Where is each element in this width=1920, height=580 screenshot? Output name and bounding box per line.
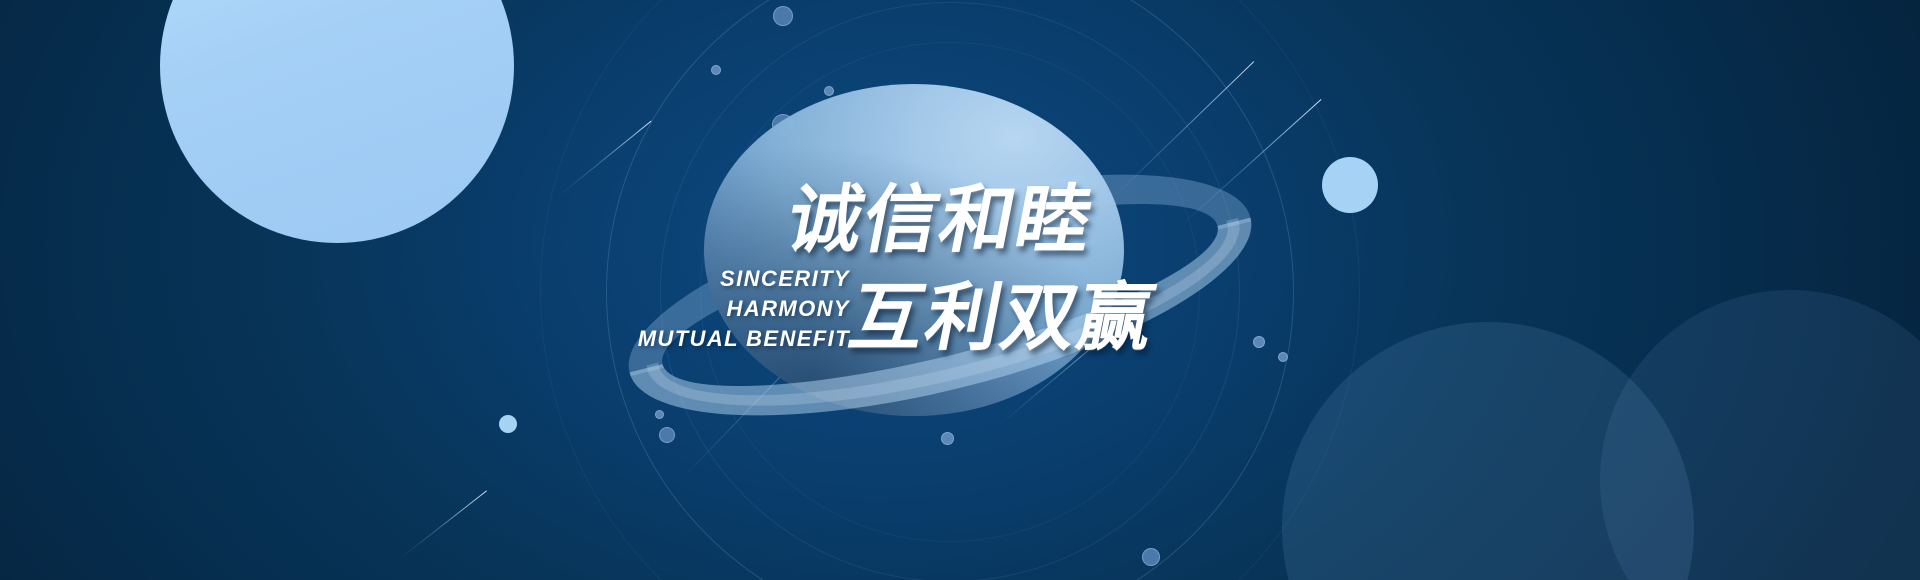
subhead-line-harmony: HARMONY	[460, 296, 850, 322]
headline-line-2: 互利双赢	[842, 258, 1167, 365]
hero-banner: SINCERITY HARMONY MUTUAL BENEFIT 诚信和睦 互利…	[0, 0, 1920, 580]
subhead-line-mutual-benefit: MUTUAL BENEFIT	[460, 326, 850, 352]
headline-line-1: 诚信和睦	[780, 160, 1105, 267]
headline-copy-block: SINCERITY HARMONY MUTUAL BENEFIT 诚信和睦 互利…	[0, 0, 1920, 580]
subhead-line-sincerity: SINCERITY	[460, 266, 850, 292]
